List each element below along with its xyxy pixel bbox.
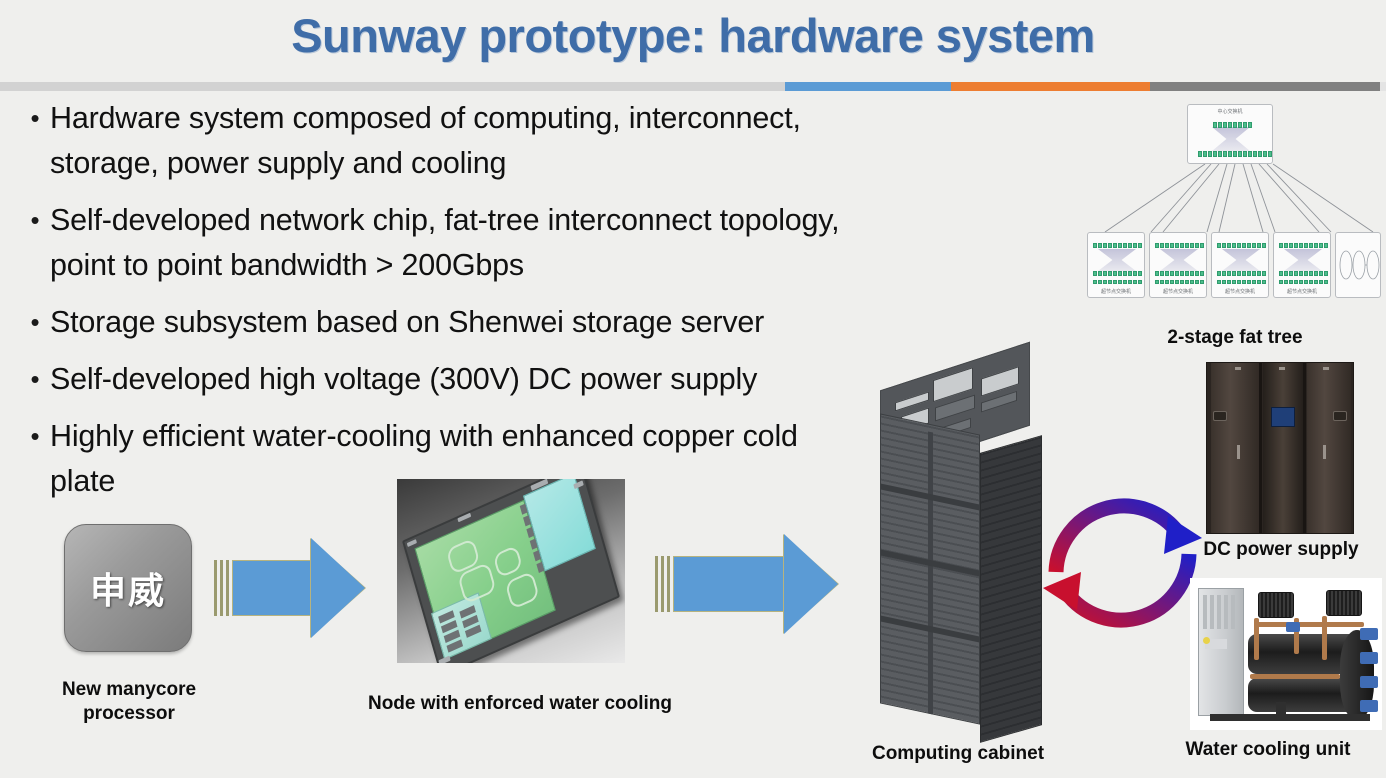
list-item: • Hardware system composed of computing,… (24, 96, 854, 186)
fat-tree-leaf-switch: 超节点交换机 (1149, 232, 1207, 298)
fat-tree-leaf-switch: 超节点交换机 (1087, 232, 1145, 298)
bullet-marker-icon: • (24, 198, 46, 242)
water-cooling-unit-photo (1190, 578, 1382, 730)
processor-caption-line1: New manycore (34, 678, 224, 702)
flow-arrow-icon-2 (655, 534, 845, 634)
list-item: • Storage subsystem based on Shenwei sto… (24, 300, 854, 345)
divider-segment-tail (1380, 82, 1386, 91)
bullet-text: Self-developed high voltage (300V) DC po… (50, 357, 757, 402)
cooling-cycle-arrows-icon (1040, 480, 1205, 645)
divider-segment-orange (951, 82, 1150, 91)
fat-tree-leaf-label: 超节点交换机 (1212, 288, 1268, 295)
flow-arrow-icon-1 (214, 538, 366, 638)
title-divider-bar (0, 82, 1386, 91)
list-item: • Self-developed high voltage (300V) DC … (24, 357, 854, 402)
fat-tree-root-switch: 中心交换机 (1187, 104, 1273, 164)
bullet-text: Self-developed network chip, fat-tree in… (50, 198, 854, 288)
divider-segment-gray-left (0, 82, 785, 91)
bullet-list: • Hardware system composed of computing,… (24, 96, 854, 516)
fat-tree-leaf-label: 超节点交换机 (1274, 288, 1330, 295)
node-board (402, 479, 620, 663)
chip-label: 申威 (90, 562, 166, 614)
page-title: Sunway prototype: hardware system (0, 8, 1386, 63)
processor-caption-line2: processor (34, 702, 224, 726)
fat-tree-leaf-label: 超节点交换机 (1088, 288, 1144, 295)
bullet-marker-icon: • (24, 414, 46, 458)
fat-tree-caption: 2-stage fat tree (1100, 326, 1370, 350)
dc-power-supply-caption: DC power supply (1158, 538, 1386, 562)
water-cooling-caption: Water cooling unit (1150, 738, 1386, 762)
fat-tree-leaf-switch: 超节点交换机 (1211, 232, 1269, 298)
chiller-control-panel (1198, 588, 1244, 716)
processor-caption: New manycore processor (34, 678, 224, 726)
cabinet-caption: Computing cabinet (830, 742, 1086, 766)
fat-tree-root-label: 中心交换机 (1188, 108, 1272, 115)
list-item: • Self-developed network chip, fat-tree … (24, 198, 854, 288)
slide-canvas: Sunway prototype: hardware system • Hard… (0, 0, 1386, 778)
cabinet-side-panels (980, 435, 1042, 743)
bullet-marker-icon: • (24, 96, 46, 140)
bullet-text: Hardware system composed of computing, i… (50, 96, 854, 186)
fat-tree-leaf-switch: 超节点交换机 (1273, 232, 1331, 298)
computing-cabinet-render (862, 366, 1052, 732)
fat-tree-diagram: 中心交换机 (1083, 96, 1383, 328)
bullet-marker-icon: • (24, 357, 46, 401)
bullet-text: Storage subsystem based on Shenwei stora… (50, 300, 764, 345)
node-caption: Node with enforced water cooling (330, 692, 710, 716)
fat-tree-leaf-label: 超节点交换机 (1150, 288, 1206, 295)
manycore-processor-chip: 申威 (64, 524, 192, 652)
dc-power-supply-photo (1206, 362, 1354, 534)
fat-tree-leaf-node-group (1335, 232, 1381, 298)
node-water-cooling-render (397, 479, 625, 663)
bullet-marker-icon: • (24, 300, 46, 344)
divider-segment-gray-right (1150, 82, 1380, 91)
divider-segment-blue (785, 82, 951, 91)
